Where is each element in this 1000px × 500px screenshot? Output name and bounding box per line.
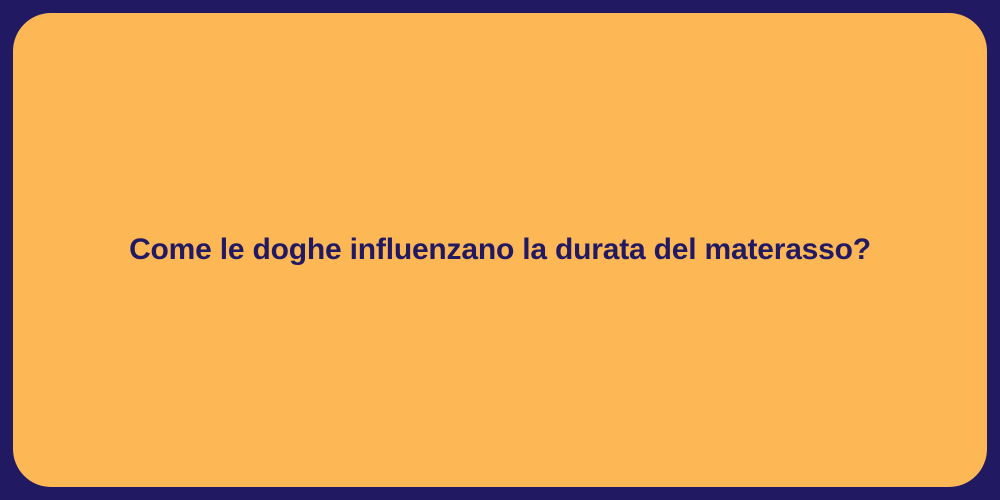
- outer-frame: Come le doghe influenzano la durata del …: [0, 0, 1000, 500]
- content-card: Come le doghe influenzano la durata del …: [13, 13, 987, 487]
- page-title: Come le doghe influenzano la durata del …: [89, 231, 911, 269]
